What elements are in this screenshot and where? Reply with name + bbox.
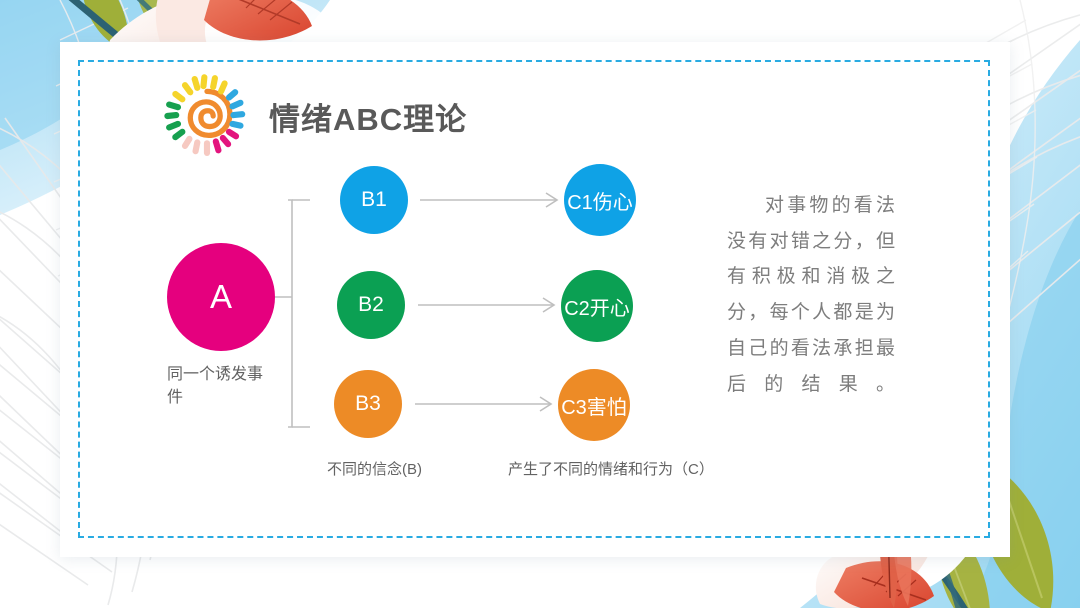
node-c1-label: C1伤心 [567, 186, 633, 215]
node-b3-label: B3 [355, 392, 381, 416]
caption-beliefs: 不同的信念(B) [327, 458, 422, 479]
node-a-label: A [210, 278, 232, 316]
node-b2[interactable]: B2 [337, 271, 405, 339]
node-b2-label: B2 [358, 293, 384, 317]
diagram-connectors [0, 0, 1080, 608]
caption-consequences: 产生了不同的情绪和行为（C） [508, 458, 714, 479]
node-a[interactable]: A [167, 243, 275, 351]
slide-canvas: 情绪ABC理论 A 同一个诱发事 [0, 0, 1080, 608]
node-c2-label: C2开心 [564, 292, 630, 321]
node-c3[interactable]: C3害怕 [558, 369, 630, 441]
node-c1[interactable]: C1伤心 [564, 164, 636, 236]
abc-diagram: A 同一个诱发事件 B1 B2 B3 C1伤心 C2开心 C3害怕 不同的信念(… [0, 0, 1080, 608]
explanation-paragraph: 对事物的看法没有对错之分，但有积极和消极之分，每个人都是为自己的看法承担最后的结… [727, 188, 895, 402]
node-c3-label: C3害怕 [561, 391, 627, 420]
node-b1[interactable]: B1 [340, 166, 408, 234]
node-b1-label: B1 [361, 188, 387, 212]
node-c2[interactable]: C2开心 [561, 270, 633, 342]
node-a-caption: 同一个诱发事件 [167, 363, 275, 409]
node-b3[interactable]: B3 [334, 370, 402, 438]
